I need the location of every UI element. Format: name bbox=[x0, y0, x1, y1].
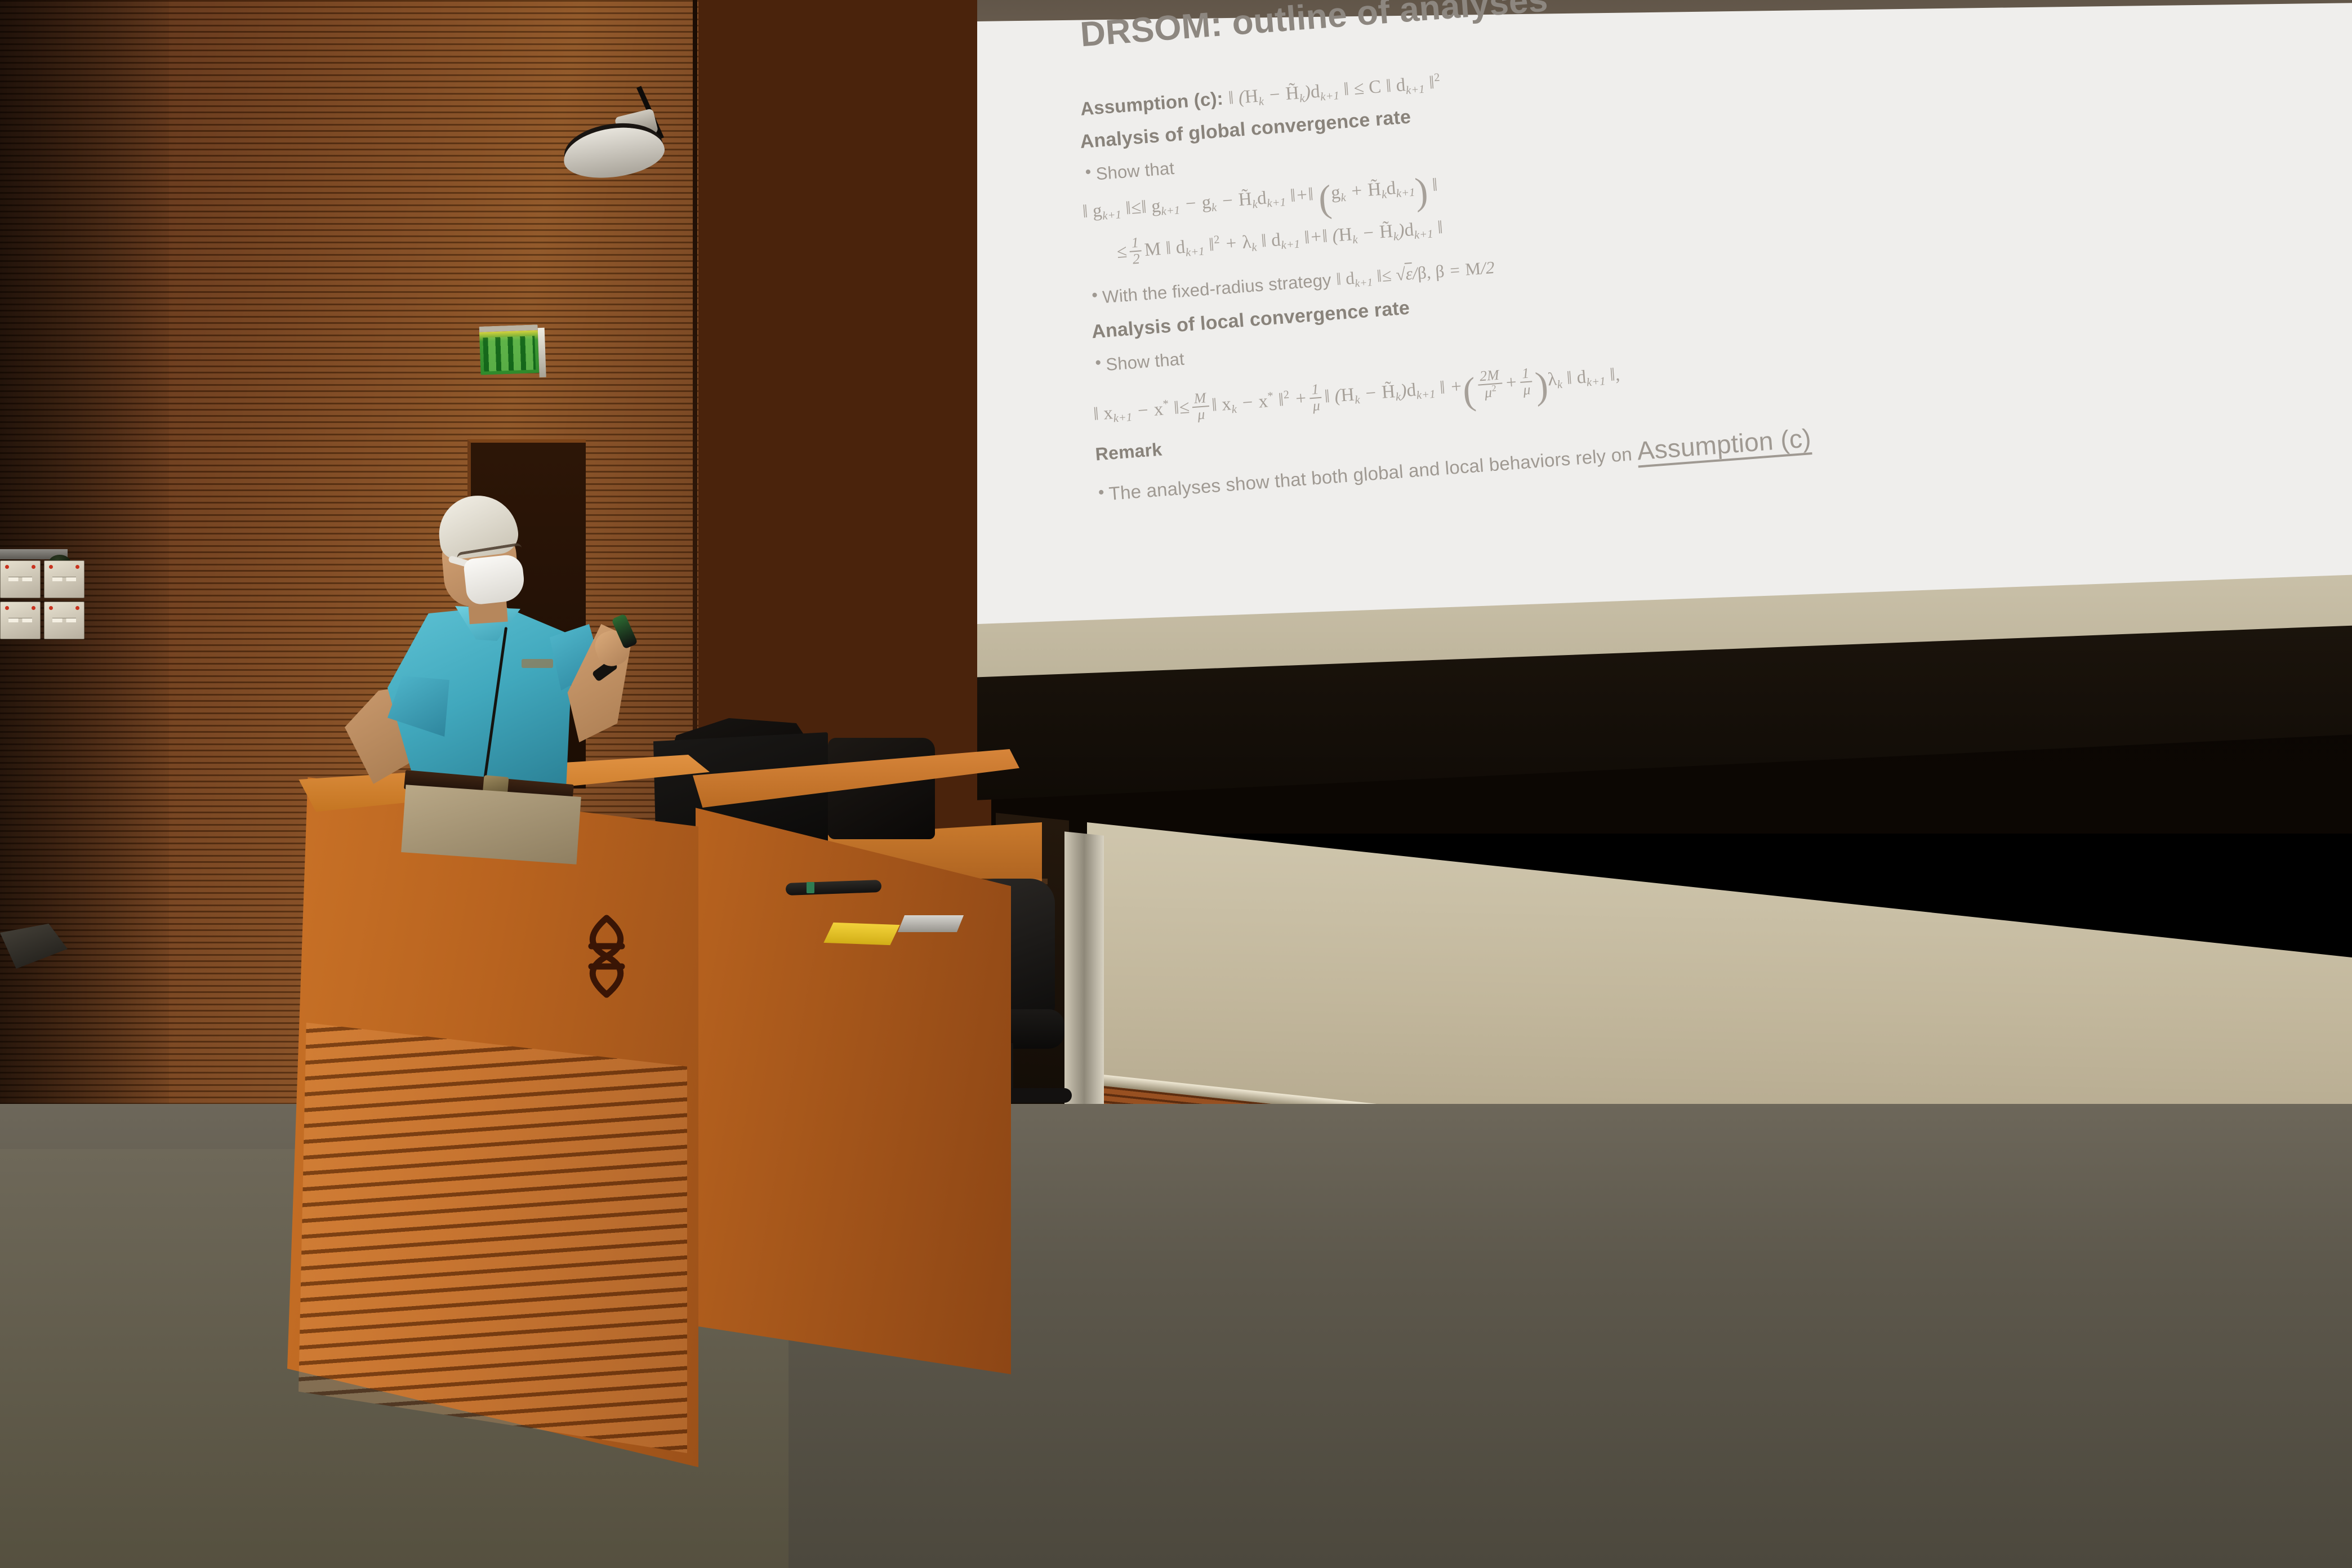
shirt-logo-icon bbox=[522, 659, 553, 668]
show-that-text-local: Show that bbox=[1105, 349, 1185, 374]
outlet-slot bbox=[8, 577, 32, 581]
slide-content: 🎙 Mute 📹 Stop Video DRSOM: outline of an… bbox=[985, 0, 2352, 775]
assumption-label: Assumption (c): bbox=[1080, 88, 1224, 119]
presenter bbox=[338, 496, 653, 856]
presenter-trousers bbox=[401, 785, 581, 864]
power-outlet-panel[interactable] bbox=[0, 560, 84, 639]
bullet-show-that-local: •Show that bbox=[1094, 347, 1185, 376]
lecture-hall-scene: 🎙 Mute 📹 Stop Video DRSOM: outline of an… bbox=[0, 0, 2352, 1568]
assumption-formula: ‖ (Hk − H̃k)dk+1 ‖ ≤ C ‖ dk+1 ‖2 bbox=[1228, 72, 1441, 109]
bullet-glyph-icon: • bbox=[1091, 286, 1098, 305]
projection-screen: 🎙 Mute 📹 Stop Video DRSOM: outline of an… bbox=[977, 0, 2352, 800]
exit-sign-face bbox=[483, 336, 536, 371]
power-outlet[interactable] bbox=[44, 602, 84, 639]
remark-emphasis: Assumption (c) bbox=[1636, 423, 1812, 465]
institution-knot-logo-icon bbox=[576, 911, 638, 1001]
bullet-glyph-icon: • bbox=[1098, 483, 1105, 502]
bullet-show-that-global: •Show that bbox=[1085, 156, 1175, 185]
outlet-slot bbox=[52, 618, 76, 622]
emergency-exit-sign-icon bbox=[479, 324, 540, 375]
remote-device[interactable] bbox=[898, 915, 964, 932]
remark-heading: Remark bbox=[1094, 439, 1162, 465]
remark-body: The analyses show that both global and l… bbox=[1108, 443, 1638, 504]
power-outlet[interactable] bbox=[0, 602, 41, 639]
lectern-slat-panel bbox=[299, 1014, 687, 1453]
equation-local-1: ‖ xk+1 − x* ‖≤Mμ‖ xk − x* ‖2 +1μ‖ (Hk − … bbox=[1092, 358, 1622, 442]
wall-seam bbox=[693, 0, 697, 856]
remark-text: •The analyses show that both global and … bbox=[1097, 422, 1812, 507]
bullet-glyph-icon: • bbox=[1094, 353, 1102, 372]
yellow-instruction-card bbox=[823, 923, 899, 945]
power-outlet[interactable] bbox=[0, 560, 41, 598]
fixed-radius-text: With the fixed-radius strategy bbox=[1102, 270, 1332, 307]
outlet-slot bbox=[8, 618, 32, 622]
microphone-band bbox=[807, 882, 814, 893]
bullet-glyph-icon: • bbox=[1085, 163, 1092, 182]
fixed-radius-formula: ‖ dk+1 ‖≤ √ε/β, β = M/2 bbox=[1335, 257, 1495, 289]
power-outlet[interactable] bbox=[44, 560, 84, 598]
show-that-text: Show that bbox=[1095, 158, 1175, 184]
face-mask bbox=[463, 554, 526, 605]
outlet-slot bbox=[52, 577, 76, 581]
